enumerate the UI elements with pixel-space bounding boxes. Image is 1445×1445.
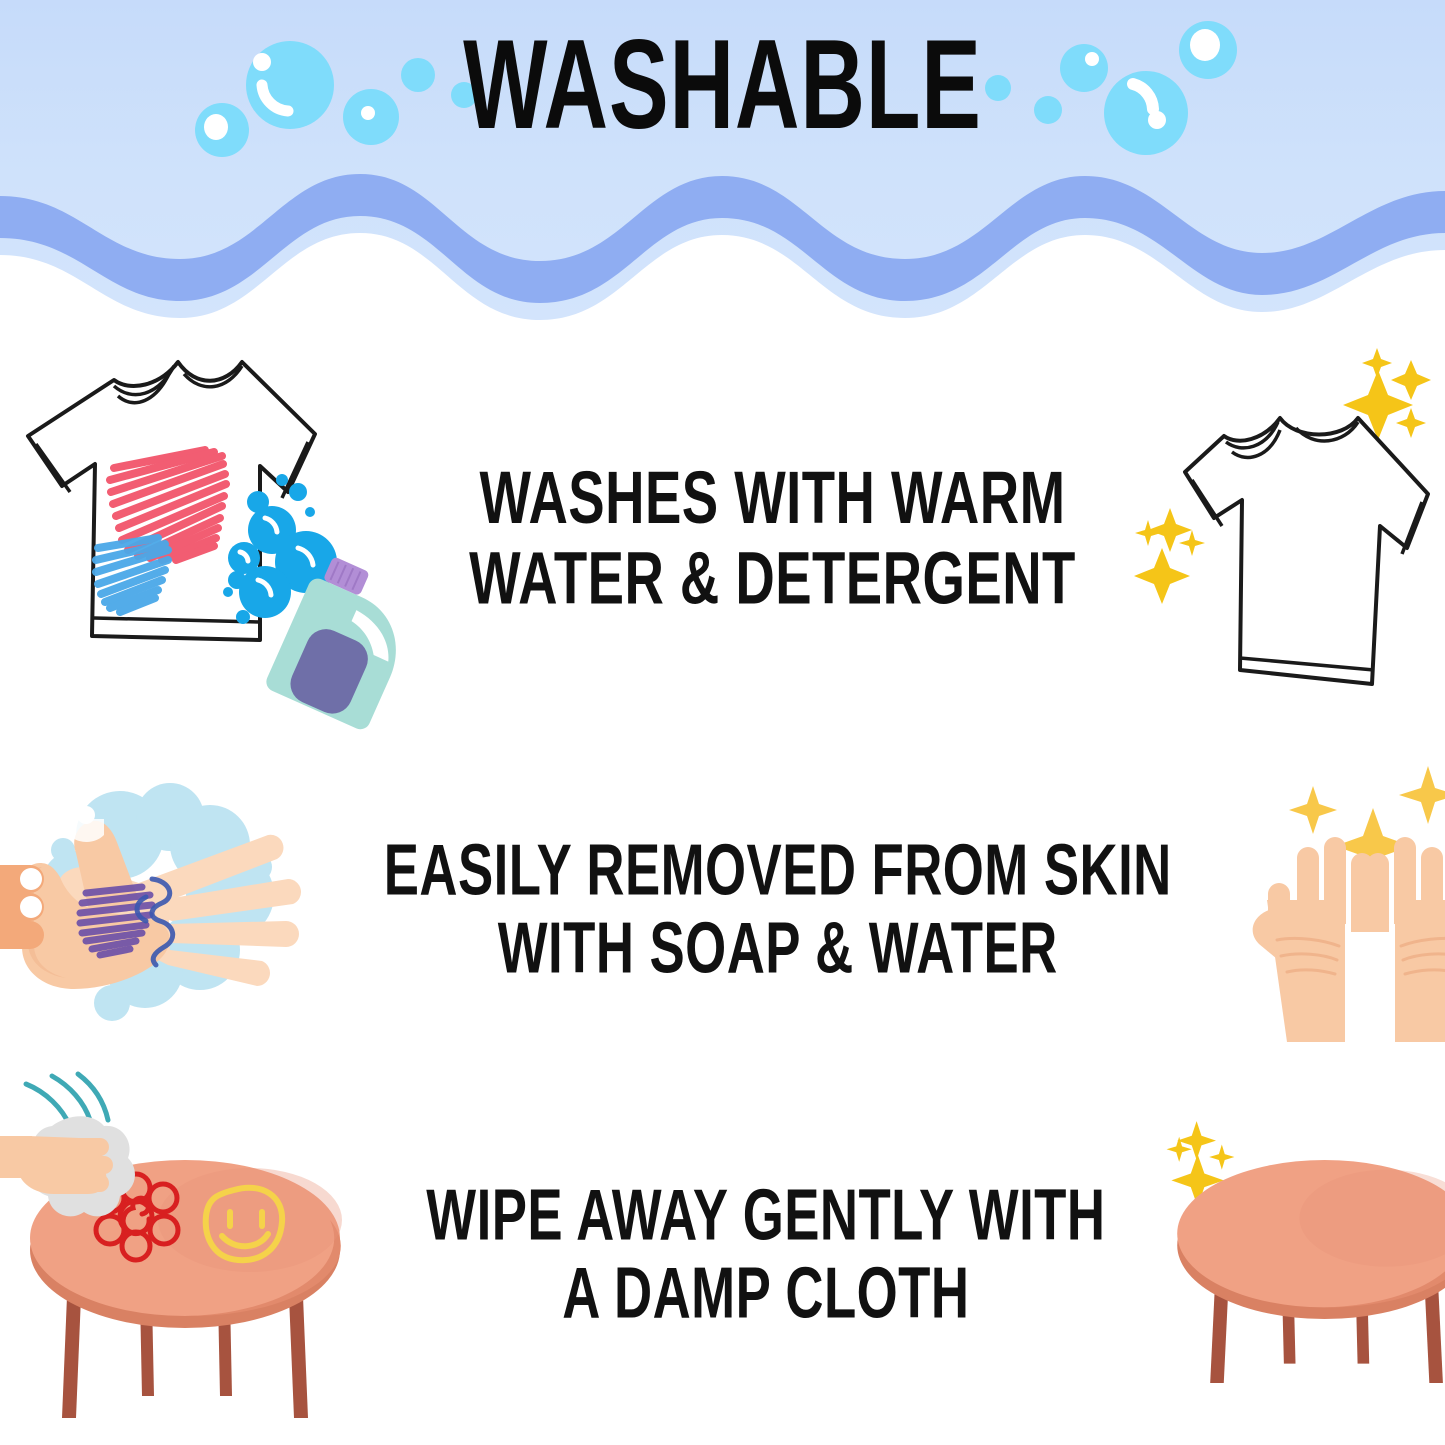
hands-washing-illustration <box>0 775 330 1045</box>
sparkle-icon-small-b <box>1396 408 1426 438</box>
table-wiping-illustration <box>0 1070 380 1440</box>
sparkle-icon-small-a <box>1362 348 1392 378</box>
row-washes-line-1: WASHES WITH WARM <box>462 460 1082 540</box>
row-surface-text-block: WIPE AWAY GENTLY WITH A DAMP CLOTH <box>426 1177 1105 1333</box>
washable-infographic-poster: WASHABLE <box>0 0 1445 1445</box>
tshirt-clean-outline-icon <box>1185 418 1428 684</box>
feature-row-skin: EASILY REMOVED FROM SKIN WITH SOAP & WAT… <box>0 760 1445 1060</box>
row-washes-text: WASHES WITH WARM WATER & DETERGENT <box>420 473 1125 607</box>
table-with-drawings-being-wiped-graphic <box>0 1070 380 1440</box>
table-top-clean-icon <box>1177 1160 1445 1319</box>
clean-hands-with-sparkles-graphic <box>1225 760 1445 1060</box>
page-title: WASHABLE <box>101 22 1344 149</box>
sparkle-icon-left-medium <box>1148 508 1192 552</box>
sparkle-icon-left-small-b <box>1179 530 1205 556</box>
row-surface-line-1: WIPE AWAY GENTLY WITH <box>426 1177 1105 1255</box>
hands-washing-with-suds-graphic <box>0 775 330 1045</box>
row-skin-text: EASILY REMOVED FROM SKIN WITH SOAP & WAT… <box>330 845 1225 975</box>
row-washes-text-block: WASHES WITH WARM WATER & DETERGENT <box>462 460 1082 621</box>
sparkle-icon-table-medium <box>1177 1121 1216 1160</box>
sparkle-icon-medium <box>1391 360 1431 400</box>
feature-row-surface: WIPE AWAY GENTLY WITH A DAMP CLOTH <box>0 1090 1445 1420</box>
header-band: WASHABLE <box>0 0 1445 340</box>
sparkle-icon-hands-medium <box>1399 766 1445 824</box>
clean-tshirt-illustration <box>1125 340 1445 740</box>
stained-tshirt-illustration <box>0 340 420 740</box>
row-skin-text-block: EASILY REMOVED FROM SKIN WITH SOAP & WAT… <box>384 832 1172 988</box>
motion-lines-icon <box>26 1074 108 1126</box>
sparkle-icon-left-small-a <box>1135 520 1161 546</box>
clean-table-with-sparkles-graphic <box>1152 1105 1445 1405</box>
sparkle-icon-left-large <box>1134 548 1190 604</box>
row-surface-text: WIPE AWAY GENTLY WITH A DAMP CLOTH <box>380 1190 1152 1320</box>
stained-tshirt-with-detergent-graphic <box>10 340 410 740</box>
sparkle-icon-hands-small <box>1289 786 1337 834</box>
row-skin-line-1: EASILY REMOVED FROM SKIN <box>384 832 1172 910</box>
row-surface-line-2: A DAMP CLOTH <box>426 1255 1105 1333</box>
clean-table-illustration <box>1152 1105 1445 1405</box>
clean-tshirt-with-sparkles-graphic <box>1130 340 1440 740</box>
sparkle-icon-table-small-b <box>1209 1144 1234 1169</box>
row-skin-line-2: WITH SOAP & WATER <box>384 910 1172 988</box>
feature-row-washes: WASHES WITH WARM WATER & DETERGENT <box>0 330 1445 750</box>
row-washes-line-2: WATER & DETERGENT <box>462 540 1082 620</box>
clean-hands-illustration <box>1225 760 1445 1060</box>
sparkle-group-mid-left <box>1134 508 1205 604</box>
wiping-hand-icon <box>0 1136 113 1194</box>
